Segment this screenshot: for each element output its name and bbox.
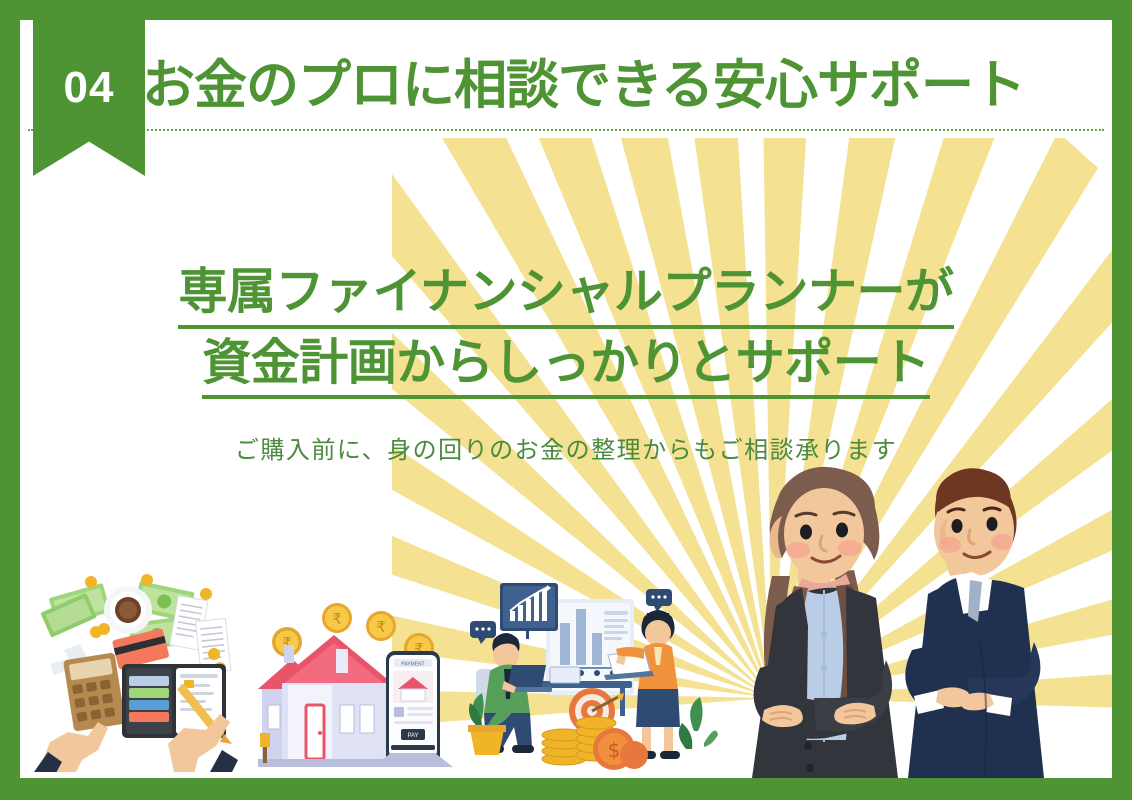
rupee-coin-icon: ₹ ₹ ₹ ₹ [272,603,434,663]
illustration-strip: ₹ ₹ ₹ ₹ [20,448,1112,778]
svg-text:₹: ₹ [282,634,292,652]
slide-canvas: 04 お金のプロに相談できる安心サポート 専属ファイナンシャルプランナーが 資金… [20,20,1112,778]
coin-stack-icon: $ [542,717,648,770]
speech-bubble-icon [470,589,672,644]
plant-icon [468,693,718,755]
coins-icon [85,574,226,682]
seated-man-icon [476,633,552,753]
section-number-ribbon: 04 [33,20,145,176]
house-icon [258,635,408,767]
phone-pay-button-label: PAY [407,733,418,739]
wallet-organizer-icon [122,664,226,738]
svg-text:₹: ₹ [376,618,386,636]
financial-planners-illustration [698,438,1112,778]
dollar-coin-symbol: $ [608,738,621,762]
office-consulting-illustration: $ [468,563,718,778]
calculator-icon [63,652,126,731]
laptop-icon [604,649,654,680]
svg-text:₹: ₹ [414,640,424,658]
desk-finance-illustration [34,572,252,772]
banknotes-icon [40,581,194,651]
headline-row-1: 専属ファイナンシャルプランナーが [20,262,1112,329]
desk-icon [504,667,632,716]
headline-block: 専属ファイナンシャルプランナーが 資金計画からしっかりとサポート [20,262,1112,403]
growth-chart-screen-icon [500,583,558,639]
hand-icon [34,714,238,772]
receipt-icon [170,596,231,674]
section-number: 04 [33,66,145,110]
house-payment-illustration: ₹ ₹ ₹ ₹ [258,593,468,778]
paper-scrap-icon [50,644,86,675]
slide-root: 04 お金のプロに相談できる安心サポート 専属ファイナンシャルプランナーが 資金… [0,0,1132,800]
headline-line-1: 専属ファイナンシャルプランナーが [178,262,953,329]
chart-board-icon [546,599,634,695]
subtitle: ご購入前に、身の回りのお金の整理からもご相談承ります [20,430,1112,465]
credit-card-icon [112,628,170,670]
laptop-icon [504,665,552,692]
female-financial-planner [752,467,898,778]
headline-row-2: 資金計画からしっかりとサポート [20,333,1112,400]
headline-line-2: 資金計画からしっかりとサポート [202,333,930,400]
header-dotted-divider [28,129,1104,131]
coffee-cup-icon [104,586,152,634]
smartphone-payment-icon: PAYMENT PAY [373,651,453,767]
pencil-icon [177,684,232,744]
standing-woman-icon [604,610,680,759]
phone-header-label: PAYMENT [401,662,424,668]
dartboard-target-icon [569,688,624,734]
page-title: お金のプロに相談できる安心サポート [142,58,1025,114]
svg-text:₹: ₹ [332,610,342,628]
male-financial-planner [905,468,1044,778]
